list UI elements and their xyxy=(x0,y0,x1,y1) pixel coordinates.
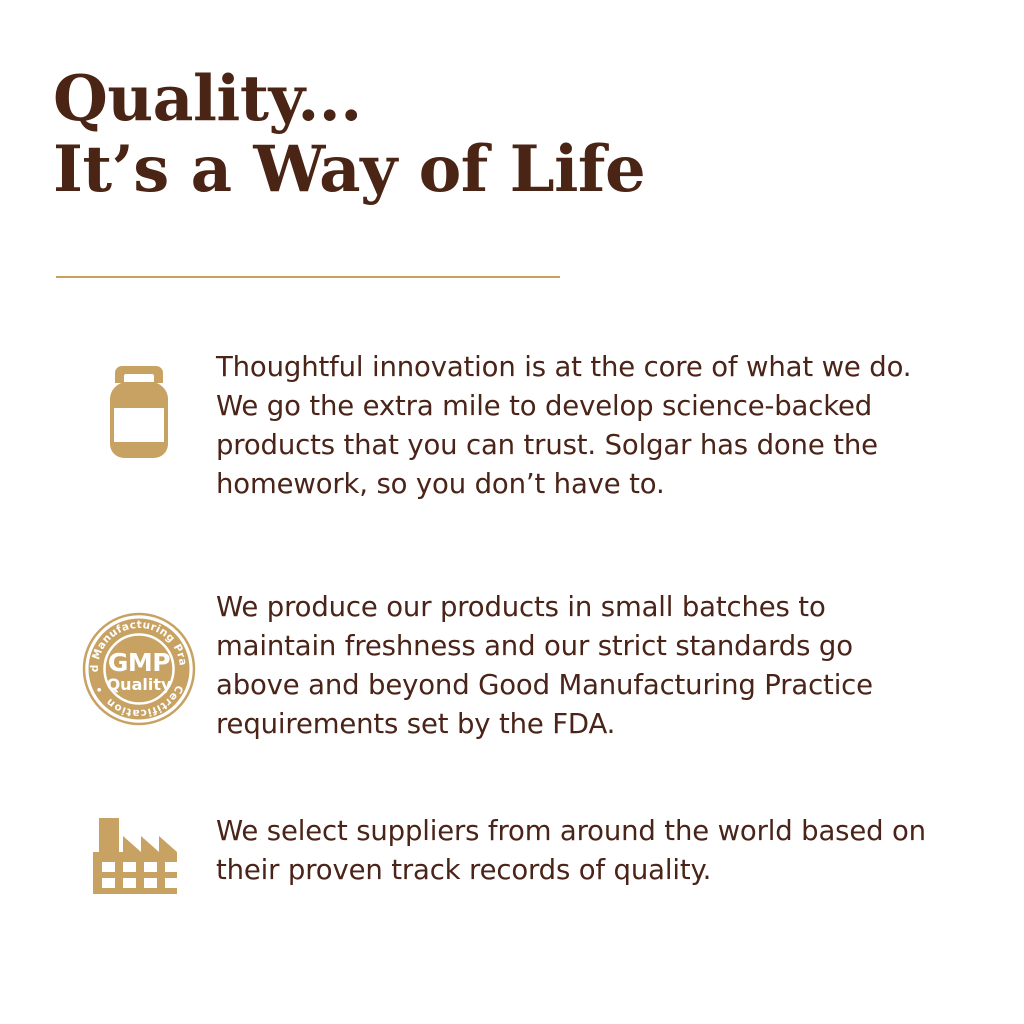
feature-description: Thoughtful innovation is at the core of … xyxy=(216,348,928,504)
feature-description: We produce our products in small batches… xyxy=(216,588,928,744)
feature-icon-cell xyxy=(62,812,216,894)
quality-infographic-page: Quality... It’s a Way of Life Thoughtful… xyxy=(0,0,1024,1024)
gmp-quality-seal-icon: Good Manufacturing Practice Certificatio… xyxy=(82,612,196,726)
supplement-bottle-icon xyxy=(96,364,182,464)
feature-icon-cell: Good Manufacturing Practice Certificatio… xyxy=(62,588,216,726)
feature-icon-cell xyxy=(62,348,216,464)
page-title: Quality... It’s a Way of Life xyxy=(53,62,913,206)
page-title-line-1: Quality... xyxy=(53,62,913,134)
feature-description: We select suppliers from around the worl… xyxy=(216,812,928,890)
factory-icon xyxy=(93,818,185,894)
feature-text-cell: We select suppliers from around the worl… xyxy=(216,812,928,890)
feature-row-suppliers: We select suppliers from around the worl… xyxy=(62,812,928,894)
gmp-center-primary: GMP xyxy=(108,648,170,677)
feature-row-gmp: Good Manufacturing Practice Certificatio… xyxy=(62,588,928,744)
page-title-line-2: It’s a Way of Life xyxy=(53,134,913,206)
gmp-center-secondary: Quality xyxy=(107,675,172,694)
feature-text-cell: Thoughtful innovation is at the core of … xyxy=(216,348,928,504)
title-divider-rule xyxy=(56,276,560,278)
feature-row-innovation: Thoughtful innovation is at the core of … xyxy=(62,348,928,504)
feature-text-cell: We produce our products in small batches… xyxy=(216,588,928,744)
